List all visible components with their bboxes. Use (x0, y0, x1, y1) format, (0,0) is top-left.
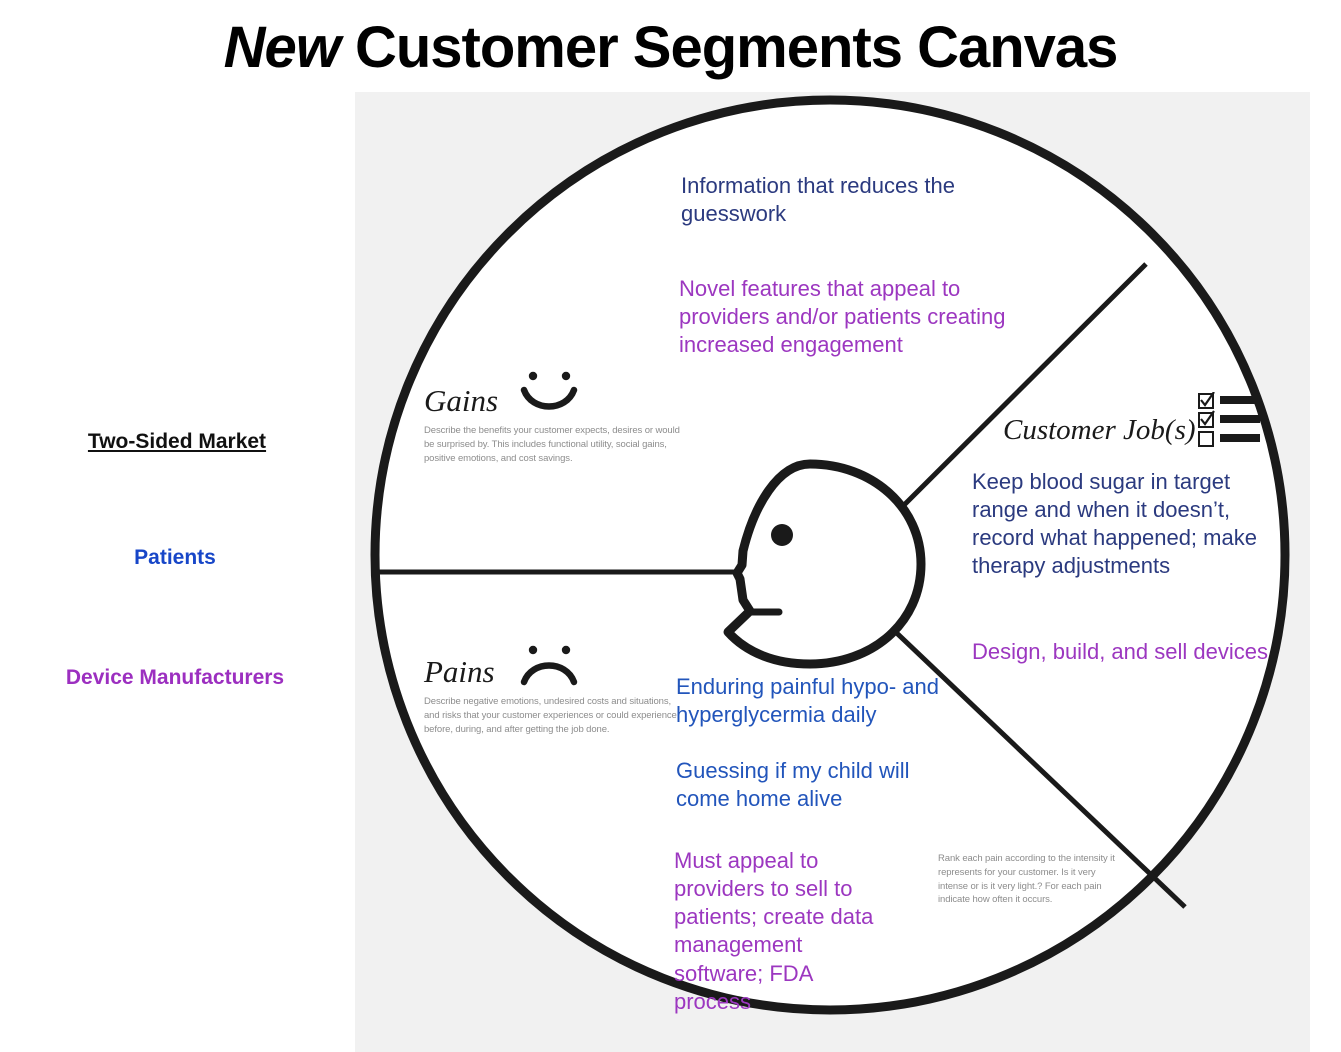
pains-note-patients-1: Enduring painful hypo- and hyperglycermi… (676, 673, 946, 729)
smiley-face-icon (516, 368, 582, 412)
page-title: New Customer Segments Canvas (0, 14, 1341, 81)
pains-note-device-manufacturers: Must appeal to providers to sell to pati… (674, 847, 884, 1016)
page-title-emphasis: New (224, 15, 340, 80)
pains-note-patients-2: Guessing if my child will come home aliv… (676, 757, 938, 813)
pains-rank-instructions: Rank each pain according to the intensit… (938, 852, 1118, 907)
gains-note-patients: Information that reduces the guesswork (681, 172, 991, 228)
frowny-face-icon (516, 644, 582, 688)
page-title-rest: Customer Segments Canvas (340, 15, 1118, 80)
legend-item-patients: Patients (0, 546, 350, 570)
gains-note-device-manufacturers: Novel features that appeal to providers … (679, 275, 1027, 359)
slide-canvas: New Customer Segments Canvas Two-Sided M… (0, 0, 1341, 1052)
customer-jobs-section-label: Customer Job(s) (1003, 414, 1196, 447)
legend: Two-Sided Market Patients Device Manufac… (0, 430, 350, 690)
pains-section-label: Pains (424, 654, 495, 690)
gains-section-label: Gains (424, 383, 498, 419)
customer-jobs-note-patients: Keep blood sugar in target range and whe… (972, 468, 1272, 581)
legend-item-device-manufacturers: Device Manufacturers (0, 666, 350, 690)
checklist-icon (1198, 392, 1262, 448)
gains-description: Describe the benefits your customer expe… (424, 424, 686, 465)
pains-description: Describe negative emotions, undesired co… (424, 695, 678, 736)
customer-jobs-note-device-manufacturers: Design, build, and sell devices (972, 638, 1272, 666)
legend-title: Two-Sided Market (0, 430, 350, 454)
